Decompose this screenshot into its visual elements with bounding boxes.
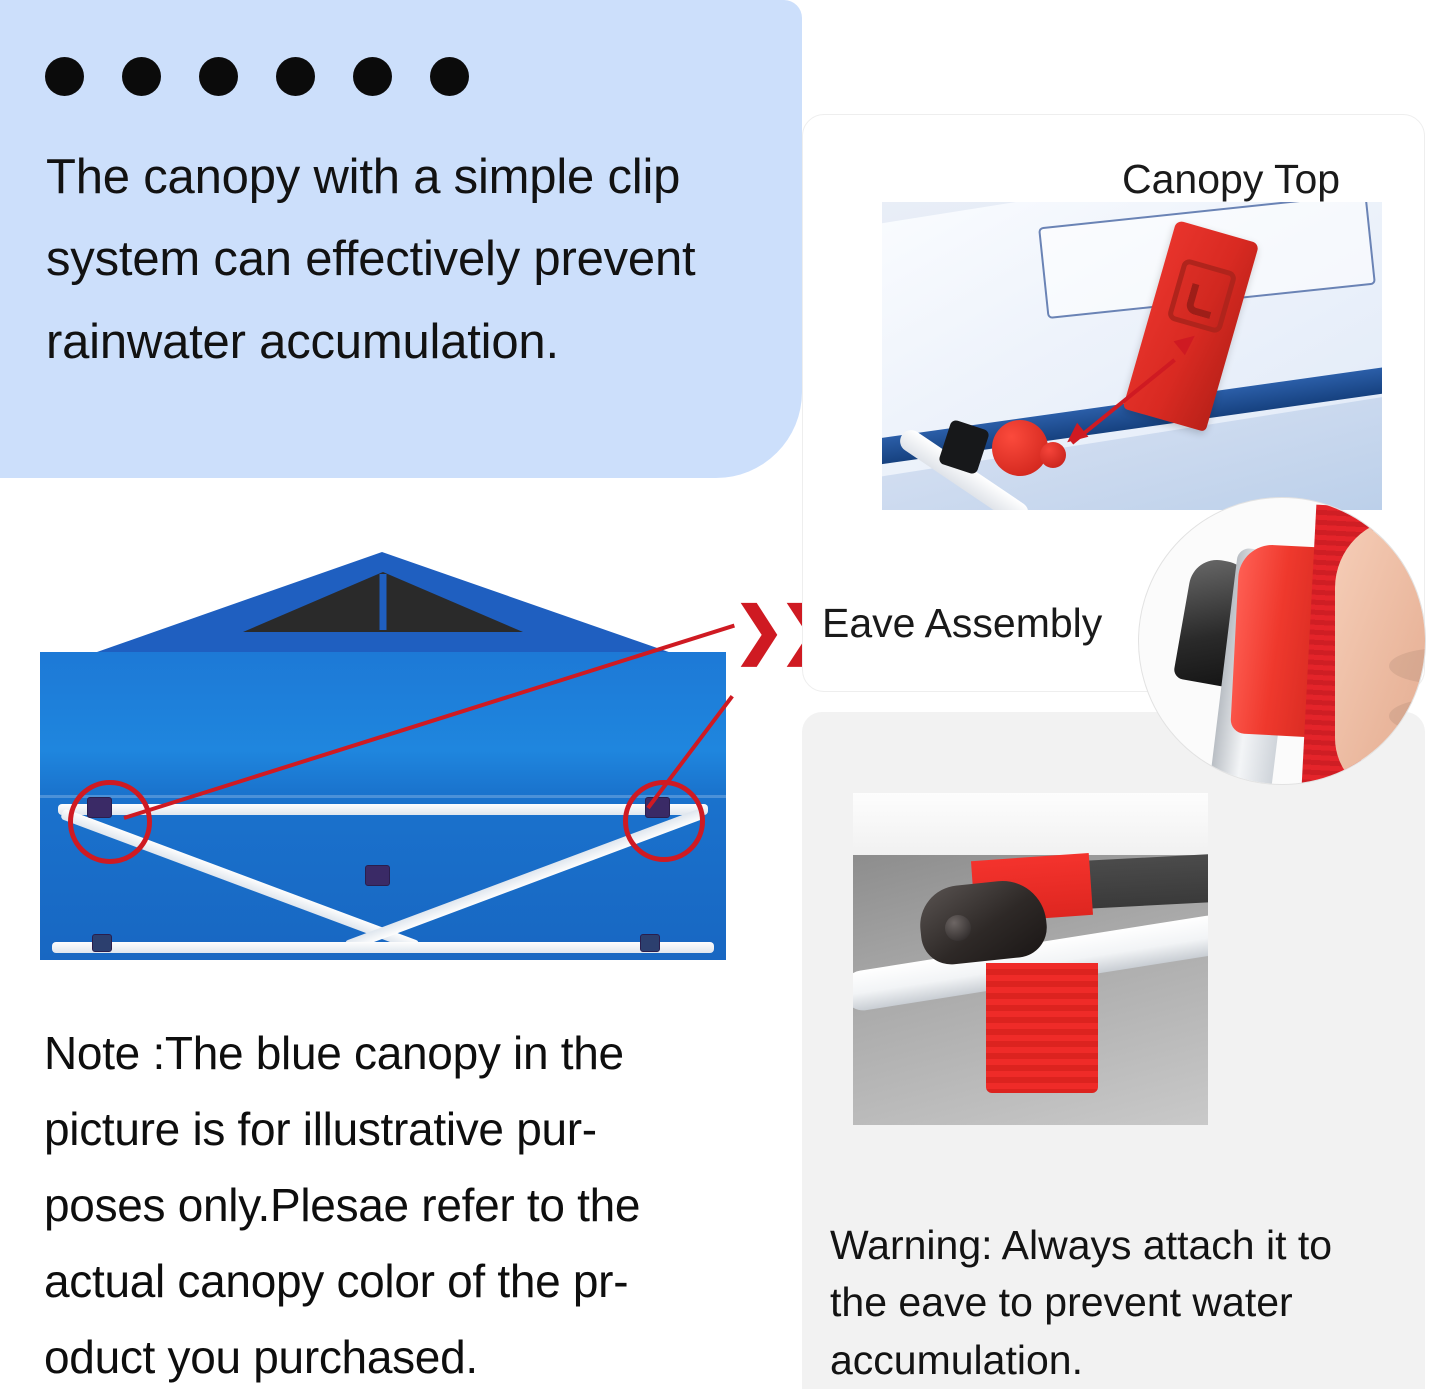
bullet-dot-icon [353, 57, 392, 96]
infographic-root: The canopy with a simple clip system can… [0, 0, 1445, 1389]
dots-row [45, 57, 469, 96]
red-knob-small [1040, 442, 1066, 468]
clip-point-bottom-left [92, 934, 112, 952]
eave-assembly-inset-photo [1138, 497, 1426, 785]
canopy-fabric-light [853, 793, 1208, 861]
canopy-vent-rib [380, 574, 387, 630]
red-knob [992, 420, 1048, 476]
bullet-dot-icon [45, 57, 84, 96]
clip-point-center [365, 865, 390, 886]
eave-attachment-photo [853, 793, 1208, 1125]
annotation-circle-left [68, 780, 152, 864]
annotation-circle-right [623, 780, 705, 862]
disclaimer-note-text: Note :The blue canopy in the picture is … [44, 1016, 704, 1389]
red-strap-hanging [986, 963, 1098, 1093]
frame-bar-horizontal-bottom [52, 942, 714, 953]
bullet-dot-icon [122, 57, 161, 96]
feature-callout-card: The canopy with a simple clip system can… [0, 0, 802, 478]
feature-callout-text: The canopy with a simple clip system can… [46, 136, 786, 383]
buckle-screw-icon [945, 915, 971, 941]
canopy-top-label: Canopy Top [1122, 156, 1340, 203]
canopy-top-photo [882, 202, 1382, 510]
clip-point-bottom-right [640, 934, 660, 952]
bullet-dot-icon [199, 57, 238, 96]
eave-assembly-label: Eave Assembly [822, 600, 1102, 647]
warning-text: Warning: Always attach it to the eave to… [830, 1217, 1390, 1389]
bullet-dot-icon [430, 57, 469, 96]
canopy-underside-photo [40, 552, 726, 960]
bullet-dot-icon [276, 57, 315, 96]
